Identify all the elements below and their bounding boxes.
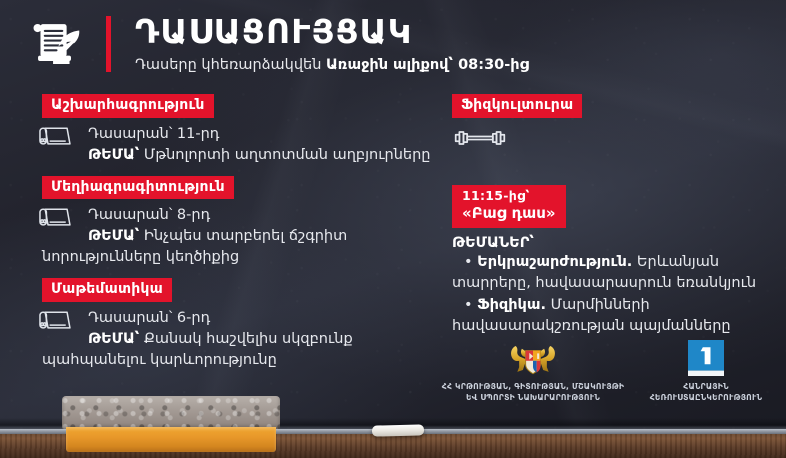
subject-badge: Մաթեմատիկա	[42, 278, 172, 302]
subject-block-geography: Աշխարհագրություն Դասարան՝ 11-րդ	[42, 94, 432, 166]
footer-logos: ՀՀ ԿՐԹՈՒԹՅԱՆ, ԳԻՏՈՒԹՅԱՆ, ՄՇԱԿՈՒՅԹԻ ԵՎ ՍՊ…	[440, 338, 786, 408]
subject-body: Դասարան՝ 6-րդ ԹԵՄԱ՝ Քանակ հաշվելիս սկզբո…	[42, 308, 432, 371]
ministry-logo-group: ՀՀ ԿՐԹՈՒԹՅԱՆ, ԳԻՏՈՒԹՅԱՆ, ՄՇԱԿՈՒՅԹԻ ԵՎ ՍՊ…	[440, 338, 626, 404]
public-tv-one-icon	[626, 338, 786, 378]
subject-lines: Դասարան՝ 6-րդ ԹԵՄԱ՝ Քանակ հաշվելիս սկզբո…	[42, 308, 432, 371]
sponge-top-surface	[62, 396, 280, 429]
subject-block-physical-education: Ֆիզկուլտուրա	[452, 94, 772, 149]
subject-badge: Աշխարհագրություն	[42, 94, 214, 118]
subject-block-media-literacy: Մեղիագրագիտություն Դասարան՝ 8-րդ	[42, 176, 432, 269]
subject-classroom: Դասարան՝ 11-րդ	[88, 126, 219, 142]
topic-title: Ֆիզիկա.	[477, 297, 546, 313]
header-subtitle-bold: Առաջին ալիքով՝ 08:30-ից	[326, 57, 529, 73]
poster-header: ԴԱՍԱՑՈՒՅՑԱԿ Դասերը կհեռարձակվեն Առաջին ա…	[0, 0, 786, 88]
header-text-group: ԴԱՍԱՑՈՒՅՑԱԿ Դասերը կհեռարձակվեն Առաջին ա…	[135, 15, 529, 73]
right-column: Ֆիզկուլտուրա 11:15-ից՝	[452, 94, 772, 337]
broadcaster-caption: ՀԱՆՐԱՅԻՆ ՀԵՌՈՒՍՏԱԸՆԿԵՐՈՒԹՅՈՒՆ	[626, 382, 786, 404]
subject-lines: Դասարան՝ 8-րդ ԹԵՄԱ՝ Ինչպես տարբերել ճշգր…	[42, 205, 432, 268]
free-lesson-badge: 11:15-ից՝ «Բաց դաս»	[452, 185, 566, 229]
subject-topic-label: ԹԵՄԱ՝	[88, 228, 139, 244]
chalkboard-schedule-poster: ԴԱՍԱՑՈՒՅՑԱԿ Դասերը կհեռարձակվեն Առաջին ա…	[0, 0, 786, 458]
subject-badge: Ֆիզկուլտուրա	[452, 94, 582, 118]
subject-block-mathematics: Մաթեմատիկա Դասարան՝ 6-րդ	[42, 278, 432, 371]
scroll-quill-icon	[24, 13, 86, 75]
free-lesson-time: 11:15-ից՝	[462, 188, 556, 204]
topic-bullet: •	[464, 297, 473, 313]
subject-classroom: Դասարան՝ 8-րդ	[88, 207, 210, 223]
sponge-base	[66, 427, 276, 452]
notebook-icon	[38, 125, 72, 149]
subject-body: Դասարան՝ 11-րդ ԹԵՄԱ՝ Մթնոլորտի աղտոտման …	[42, 124, 432, 166]
header-subtitle: Դասերը կհեռարձակվեն Առաջին ալիքով՝ 08:30…	[135, 57, 529, 73]
left-column: Աշխարհագրություն Դասարան՝ 11-րդ	[42, 94, 432, 381]
subject-badge: Մեղիագրագիտություն	[42, 176, 234, 200]
topic-item: • Ֆիզիկա. Մարմինների հավասարակշռության պ…	[452, 295, 772, 337]
free-lesson-block: 11:15-ից՝ «Բաց դաս» ԹԵՄԱՆԵՐ՝ • Երկրաշարժ…	[452, 185, 772, 338]
topic-title: Երկրաշարժություն.	[477, 254, 632, 270]
subject-body: Դասարան՝ 8-րդ ԹԵՄԱ՝ Ինչպես տարբերել ճշգր…	[42, 205, 432, 268]
topic-bullet: •	[464, 254, 473, 270]
notebook-icon	[38, 206, 72, 230]
ministry-caption: ՀՀ ԿՐԹՈՒԹՅԱՆ, ԳԻՏՈՒԹՅԱՆ, ՄՇԱԿՈՒՅԹԻ ԵՎ ՍՊ…	[440, 382, 626, 404]
chalk-stick	[372, 424, 424, 436]
subject-lines: Դասարան՝ 11-րդ ԹԵՄԱ՝ Մթնոլորտի աղտոտման …	[42, 124, 432, 166]
topic-item: • Երկրաշարժություն. Երևանյան տարրերը, հա…	[452, 252, 772, 294]
board-eraser-sponge	[62, 396, 280, 452]
broadcaster-logo-group: ՀԱՆՐԱՅԻՆ ՀԵՌՈՒՍՏԱԸՆԿԵՐՈՒԹՅՈՒՆ	[626, 338, 786, 404]
subject-classroom: Դասարան՝ 6-րդ	[88, 310, 210, 326]
subject-topic-text: Մթնոլորտի աղտոտման աղբյուրները	[139, 147, 430, 163]
header-subtitle-plain: Դասերը կհեռարձակվեն	[135, 57, 326, 73]
topics-label: ԹԵՄԱՆԵՐ՝	[452, 235, 772, 251]
armenia-coat-of-arms-icon	[440, 338, 626, 378]
notebook-icon	[38, 309, 72, 333]
free-lesson-name: «Բաց դաս»	[462, 204, 556, 224]
subject-topic-label: ԹԵՄԱ՝	[88, 147, 139, 163]
subject-topic-label: ԹԵՄԱ՝	[88, 331, 139, 347]
header-accent-rule	[106, 16, 111, 72]
page-title: ԴԱՍԱՑՈՒՅՑԱԿ	[135, 15, 529, 50]
dumbbell-icon	[452, 127, 508, 149]
